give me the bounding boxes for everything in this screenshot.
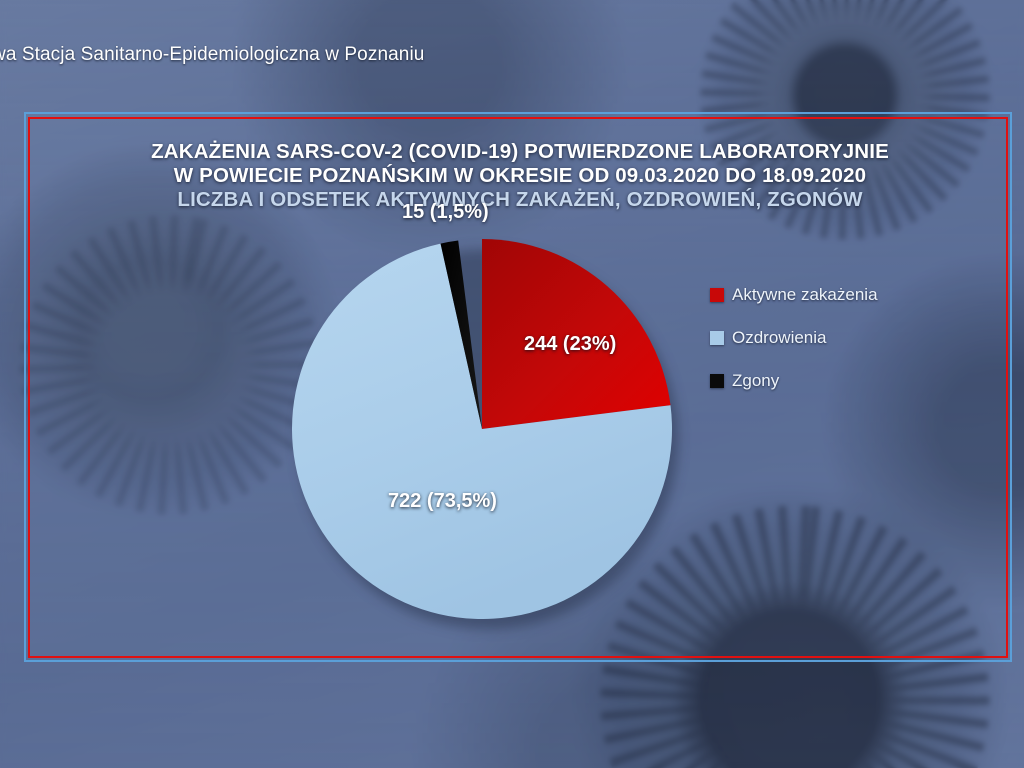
legend-label-ozdrowienia: Ozdrowienia — [732, 328, 827, 348]
legend-item-aktywne-zakazenia: Aktywne zakażenia — [710, 284, 960, 306]
legend-label-aktywne-zakazenia: Aktywne zakażenia — [732, 285, 878, 305]
pie-label-zgony: 15 (1,5%) — [402, 201, 489, 224]
chart-legend: Aktywne zakażenia Ozdrowienia Zgony — [710, 284, 960, 413]
pie-label-aktywne-zakazenia: 244 (23%) — [524, 333, 616, 356]
chart-panel: ZAKAŻENIA SARS-COV-2 (COVID-19) POTWIERD… — [24, 112, 1012, 662]
legend-swatch-red — [710, 288, 724, 302]
pie-slices — [292, 239, 672, 619]
chart-title-line-2: W POWIECIE POZNAŃSKIM W OKRESIE OD 09.03… — [26, 164, 1014, 188]
legend-label-zgony: Zgony — [732, 371, 779, 391]
pie-chart: 15 (1,5%) 244 (23%) 722 (73,5%) — [292, 239, 676, 623]
organization-header-title: wa Stacja Sanitarno-Epidemiologiczna w P… — [0, 44, 424, 66]
pie-svg — [292, 239, 672, 619]
pie-label-ozdrowienia: 722 (73,5%) — [388, 490, 497, 513]
legend-item-zgony: Zgony — [710, 370, 960, 392]
chart-title: ZAKAŻENIA SARS-COV-2 (COVID-19) POTWIERD… — [26, 140, 1014, 212]
chart-title-line-3: LICZBA I ODSETEK AKTYWNYCH ZAKAŻEŃ, OZDR… — [26, 188, 1014, 212]
chart-title-line-1: ZAKAŻENIA SARS-COV-2 (COVID-19) POTWIERD… — [26, 140, 1014, 164]
legend-swatch-light-blue — [710, 331, 724, 345]
legend-item-ozdrowienia: Ozdrowienia — [710, 327, 960, 349]
pie-path-group — [292, 239, 672, 619]
slide-canvas: wa Stacja Sanitarno-Epidemiologiczna w P… — [0, 0, 1024, 768]
legend-swatch-black — [710, 374, 724, 388]
